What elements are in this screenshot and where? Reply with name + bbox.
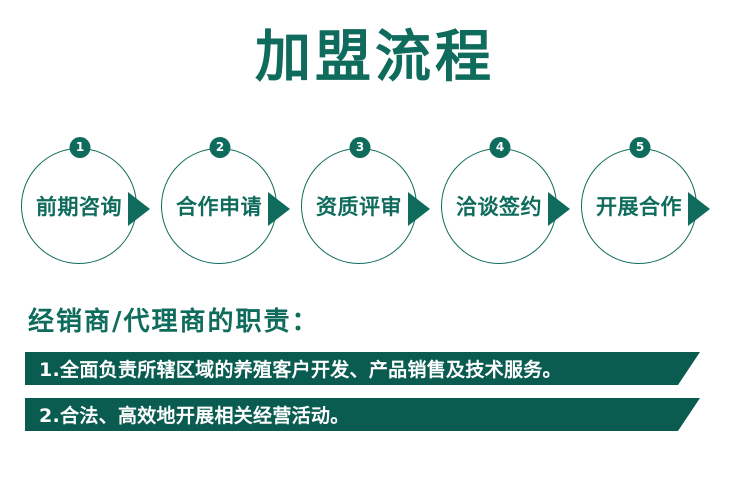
flow-arrow-icon-5 [688,192,710,226]
step-number-badge: 5 [630,137,651,158]
franchise-flow-diagram: 1 前期咨询 2 合作申请 3 资质评审 4 洽谈签约 5 开展合作 [0,140,750,270]
flow-arrow-icon-2 [268,192,290,226]
flow-arrow-icon-3 [408,192,430,226]
step-label: 洽谈签约 [441,148,557,264]
page-title: 加盟流程 [0,22,750,94]
flow-step-1[interactable]: 1 前期咨询 [21,148,139,266]
step-label: 前期咨询 [21,148,137,264]
step-number-badge: 4 [490,137,511,158]
flow-arrow-icon-4 [548,192,570,226]
flow-step-5[interactable]: 5 开展合作 [581,148,699,266]
step-label: 开展合作 [581,148,697,264]
step-number-badge: 2 [210,137,231,158]
duty-item-2: 2.合法、高效地开展相关经营活动。 [25,398,700,431]
step-label: 合作申请 [161,148,277,264]
flow-arrow-icon-1 [128,192,150,226]
flow-step-2[interactable]: 2 合作申请 [161,148,279,266]
flow-step-4[interactable]: 4 洽谈签约 [441,148,559,266]
step-number-badge: 3 [350,137,371,158]
flow-step-3[interactable]: 3 资质评审 [301,148,419,266]
duty-item-1: 1.全面负责所辖区域的养殖客户开发、产品销售及技术服务。 [25,352,700,385]
step-number-badge: 1 [70,137,91,158]
duties-heading: 经销商/代理商的职责： [28,305,320,339]
step-label: 资质评审 [301,148,417,264]
